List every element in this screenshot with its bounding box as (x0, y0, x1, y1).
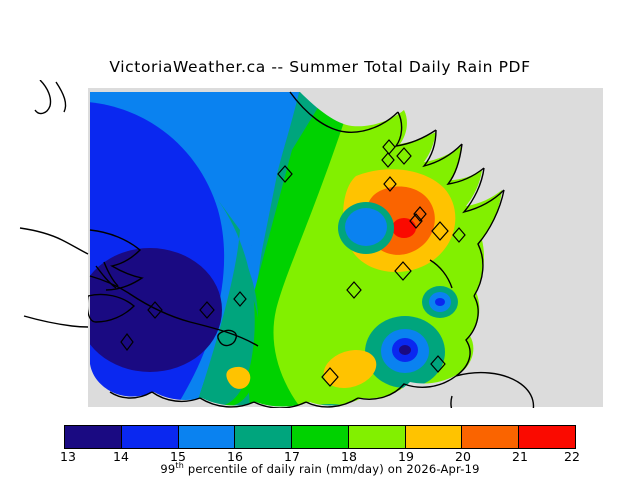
colorbar-band-19-20 (406, 426, 463, 448)
contour-nc-low-15-16 (345, 208, 387, 246)
colorbar-band-20-21 (462, 426, 519, 448)
colorbar-band-16-17 (235, 426, 292, 448)
map-plot-area (0, 80, 640, 408)
contour-me-low-14-15 (435, 298, 445, 306)
contour-ec-low-13-14 (399, 345, 411, 355)
caption-prefix: 99 (160, 462, 175, 476)
colorbar-band-21-22 (519, 426, 575, 448)
colorbar-band-18-19 (349, 426, 406, 448)
left-margin (0, 80, 88, 408)
precipitation-contour-map (0, 80, 640, 408)
right-margin (603, 80, 640, 408)
caption-ordinal-suffix: th (175, 461, 184, 470)
colorbar (64, 425, 576, 449)
contour-ne-21-22 (392, 218, 416, 238)
colorbar-band-15-16 (179, 426, 236, 448)
caption-rest: percentile of daily rain (mm/day) on 202… (184, 462, 480, 476)
colorbar-band-13-14 (65, 426, 122, 448)
page-title: VictoriaWeather.ca -- Summer Total Daily… (0, 58, 640, 76)
colorbar-caption: 99th percentile of daily rain (mm/day) o… (0, 461, 640, 476)
colorbar-band-17-18 (292, 426, 349, 448)
colorbar-band-14-15 (122, 426, 179, 448)
